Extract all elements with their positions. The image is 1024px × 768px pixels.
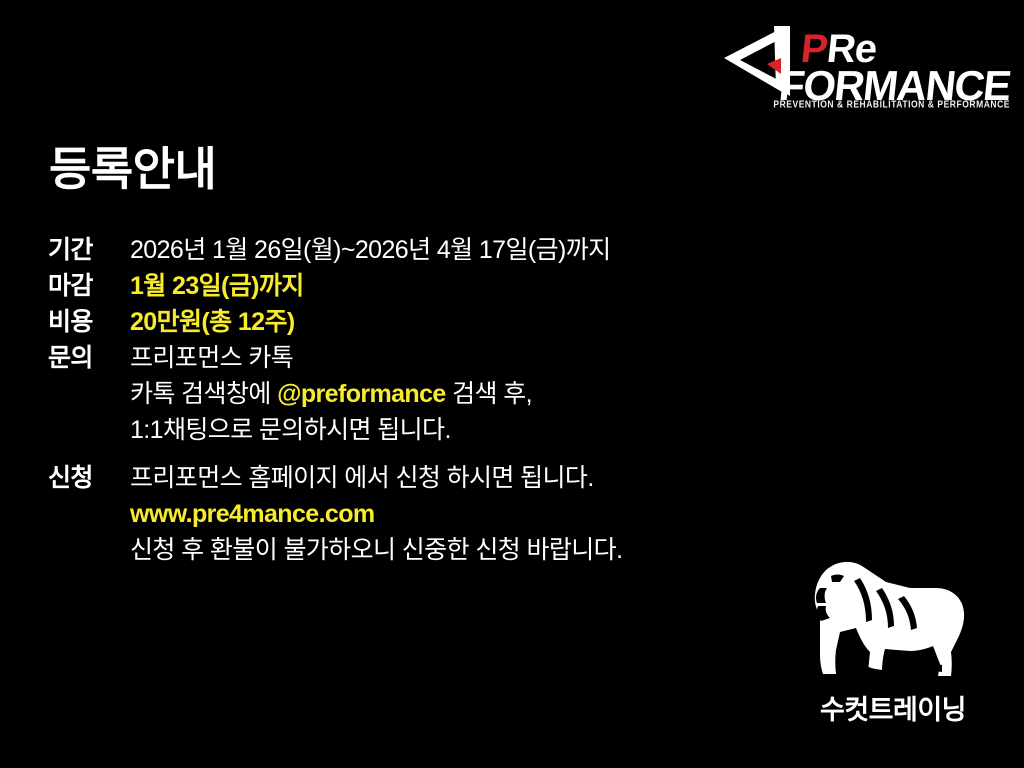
info-value-cost: 20만원(총 12주): [130, 304, 788, 340]
inquiry-kakao-search-line: 카톡 검색창에 @preformance 검색 후,: [130, 376, 788, 412]
mascot-logo-block: 수컷트레이닝: [790, 554, 996, 726]
kakao-handle: @preformance: [277, 380, 446, 408]
info-row-inquiry: 문의 프리포먼스 카톡: [48, 340, 788, 376]
inquiry-search-suffix: 검색 후,: [446, 380, 532, 408]
info-row-deadline: 마감 1월 23일(금)까지: [48, 268, 788, 304]
info-value-deadline: 1월 23일(금)까지: [130, 268, 788, 304]
apply-website-url[interactable]: www.pre4mance.com: [130, 496, 788, 532]
brand-tagline: PREVENTION & REHABILITATION & PERFORMANC…: [766, 98, 1010, 110]
inquiry-chat-line: 1:1채팅으로 문의하시면 됩니다.: [130, 412, 788, 448]
brand-logo: P Re FORMANCE PREVENTION & REHABILITATIO…: [710, 22, 1010, 108]
registration-info-block: 기간 2026년 1월 26일(월)~2026년 4월 17일(금)까지 마감 …: [48, 232, 788, 568]
info-label-deadline: 마감: [48, 268, 130, 304]
mascot-caption: 수컷트레이닝: [790, 696, 996, 726]
gorilla-silhouette-icon: [790, 554, 996, 694]
info-row-apply: 신청 프리포먼스 홈페이지 에서 신청 하시면 됩니다.: [48, 460, 788, 496]
info-label-apply: 신청: [48, 460, 130, 496]
info-label-inquiry: 문의: [48, 340, 130, 376]
page-title: 등록안내: [49, 145, 216, 195]
info-row-cost: 비용 20만원(총 12주): [48, 304, 788, 340]
info-value-apply: 프리포먼스 홈페이지 에서 신청 하시면 됩니다.: [130, 460, 788, 496]
section-spacer: [48, 448, 788, 460]
apply-refund-note: 신청 후 환불이 불가하오니 신중한 신청 바랍니다.: [130, 532, 788, 568]
info-label-period: 기간: [48, 232, 130, 268]
info-value-inquiry: 프리포먼스 카톡: [130, 340, 788, 376]
info-row-period: 기간 2026년 1월 26일(월)~2026년 4월 17일(금)까지: [48, 232, 788, 268]
info-value-period: 2026년 1월 26일(월)~2026년 4월 17일(금)까지: [130, 232, 788, 268]
info-label-cost: 비용: [48, 304, 130, 340]
preformance-wordmark-icon: P Re FORMANCE: [720, 22, 1012, 108]
inquiry-search-prefix: 카톡 검색창에: [130, 380, 277, 408]
